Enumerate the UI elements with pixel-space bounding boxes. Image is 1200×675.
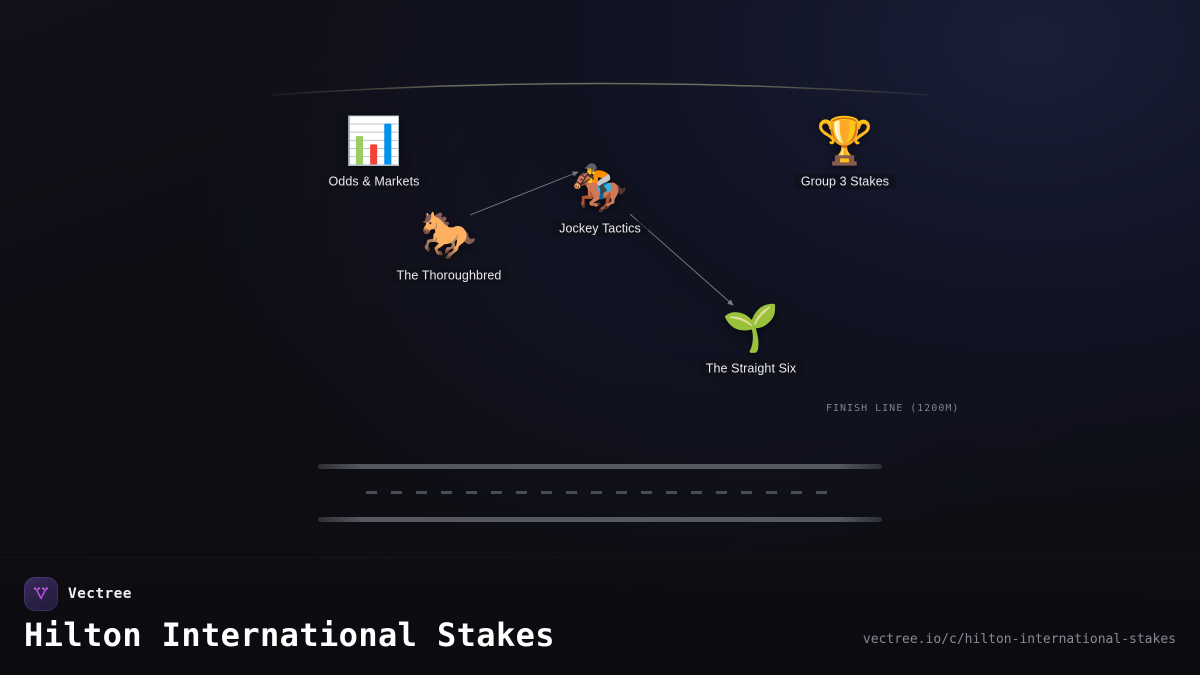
race-track-graphic [318,464,882,522]
track-center-dashed-line [366,491,834,494]
page-title: Hilton International Stakes [24,616,555,654]
graph-node-straight-six[interactable]: 🌱 The Straight Six [651,300,851,377]
graph-node-label: Group 3 Stakes [794,174,896,190]
graph-node-odds-markets[interactable]: 📊 Odds & Markets [274,113,474,190]
vectree-tree-logo-icon [24,577,58,611]
graph-node-label: The Straight Six [699,361,804,377]
vectree-tree-glyph [31,584,51,604]
page-url[interactable]: vectree.io/c/hilton-international-stakes [863,632,1176,647]
track-bend-arc [272,84,928,96]
finish-line-caption: FINISH LINE (1200M) [826,403,959,414]
bar-chart-emoji: 📊 [345,113,402,169]
graph-node-jockey-tactics[interactable]: 🏇 Jockey Tactics [500,160,700,237]
graph-node-group-3-stakes[interactable]: 🏆 Group 3 Stakes [745,113,945,190]
brand-row[interactable]: Vectree [24,577,132,611]
screenshot-canvas: 📊 Odds & Markets 🐎 The Thoroughbred 🏇 Jo… [0,0,1200,675]
seedling-emoji: 🌱 [722,300,779,356]
footer-bar: Vectree Hilton International Stakes vect… [0,557,1200,675]
brand-name: Vectree [68,586,132,602]
track-rail-top [318,464,882,469]
horse-emoji: 🐎 [420,207,477,263]
graph-node-label: The Thoroughbred [390,268,509,284]
horse-racing-emoji: 🏇 [571,160,628,216]
graph-node-label: Jockey Tactics [552,221,648,237]
graph-node-label: Odds & Markets [321,174,426,190]
track-rail-bottom [318,517,882,522]
trophy-emoji: 🏆 [816,113,873,169]
